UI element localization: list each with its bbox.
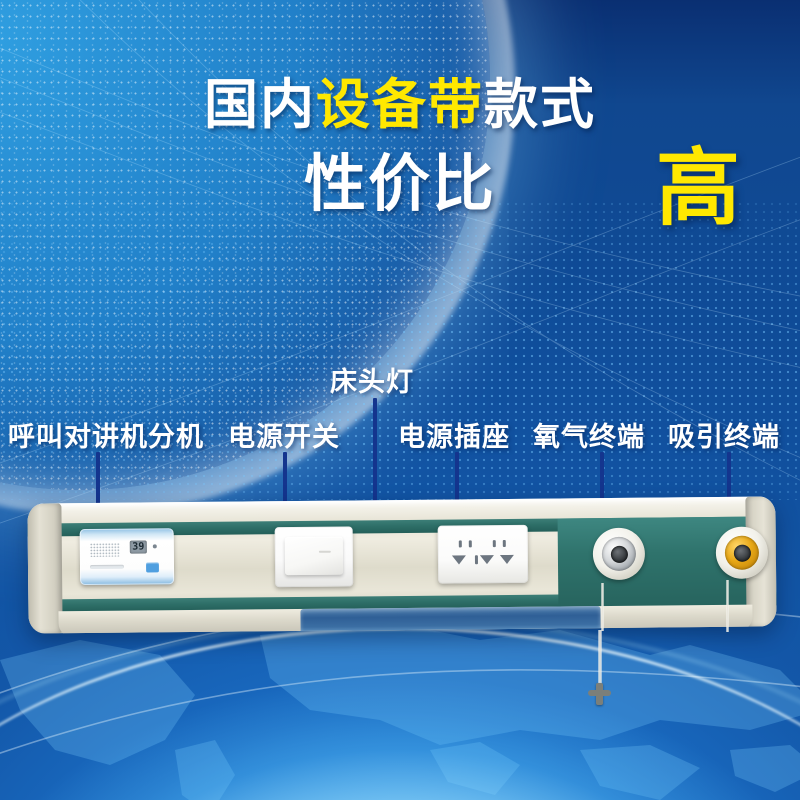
callout-label-suction: 吸引终端 xyxy=(668,415,780,454)
intercom-indicator-led xyxy=(153,544,157,548)
oxygen-cord-upper xyxy=(601,583,604,631)
intercom-speaker-grille xyxy=(90,543,120,557)
suction-terminal-ring xyxy=(725,536,759,570)
pull-cord xyxy=(598,630,602,690)
headline-line2-text: 性价比 xyxy=(304,150,496,219)
socket-neutral-pin xyxy=(475,555,478,564)
headline-line-1: 国内设备带款式 xyxy=(0,78,800,132)
intercom-slot xyxy=(90,565,124,569)
socket-ground-right xyxy=(500,555,514,564)
oxygen-terminal-ring xyxy=(602,537,636,571)
callout-label-power-switch: 电源开关 xyxy=(228,415,340,454)
headline-accent-word: 高 xyxy=(656,146,740,230)
socket-live-left xyxy=(480,555,494,564)
socket-flat-pins-right xyxy=(492,540,508,547)
suction-terminal[interactable] xyxy=(716,526,768,578)
headline-line1-part1: 国内 xyxy=(204,75,316,135)
power-switch-rocker[interactable] xyxy=(285,537,343,576)
power-switch[interactable] xyxy=(275,526,354,587)
headline-line1-part3: 款式 xyxy=(484,75,596,135)
suction-cord-upper xyxy=(726,580,729,632)
callout-label-socket: 电源插座 xyxy=(398,415,510,454)
intercom-display: 39 xyxy=(130,540,147,553)
pull-cord-hook xyxy=(596,683,603,705)
socket-flat-pins-left xyxy=(458,540,474,547)
callout-label-bed-lamp: 床头灯 xyxy=(330,360,414,399)
oxygen-terminal-port xyxy=(610,545,627,562)
intercom-call-button[interactable] xyxy=(146,562,159,572)
suction-terminal-port xyxy=(733,544,750,561)
promo-banner: 国内设备带款式 性价比 高 呼叫对讲机分机 电源开关 床头灯 电源插座 氧气终端… xyxy=(0,0,800,800)
power-switch-mark xyxy=(319,551,331,553)
nurse-call-intercom[interactable]: 39 xyxy=(80,528,175,585)
callout-label-intercom: 呼叫对讲机分机 xyxy=(8,415,204,454)
panel-body: 39 xyxy=(27,496,776,633)
panel-end-cap-left xyxy=(27,503,62,633)
socket-ground-left xyxy=(452,555,466,564)
headline-line1-part2: 设备带 xyxy=(316,75,484,135)
medical-bed-head-unit-panel: 39 xyxy=(27,496,776,633)
callout-label-oxygen: 氧气终端 xyxy=(533,415,645,454)
oxygen-terminal[interactable] xyxy=(593,528,645,580)
power-socket[interactable] xyxy=(438,525,529,584)
